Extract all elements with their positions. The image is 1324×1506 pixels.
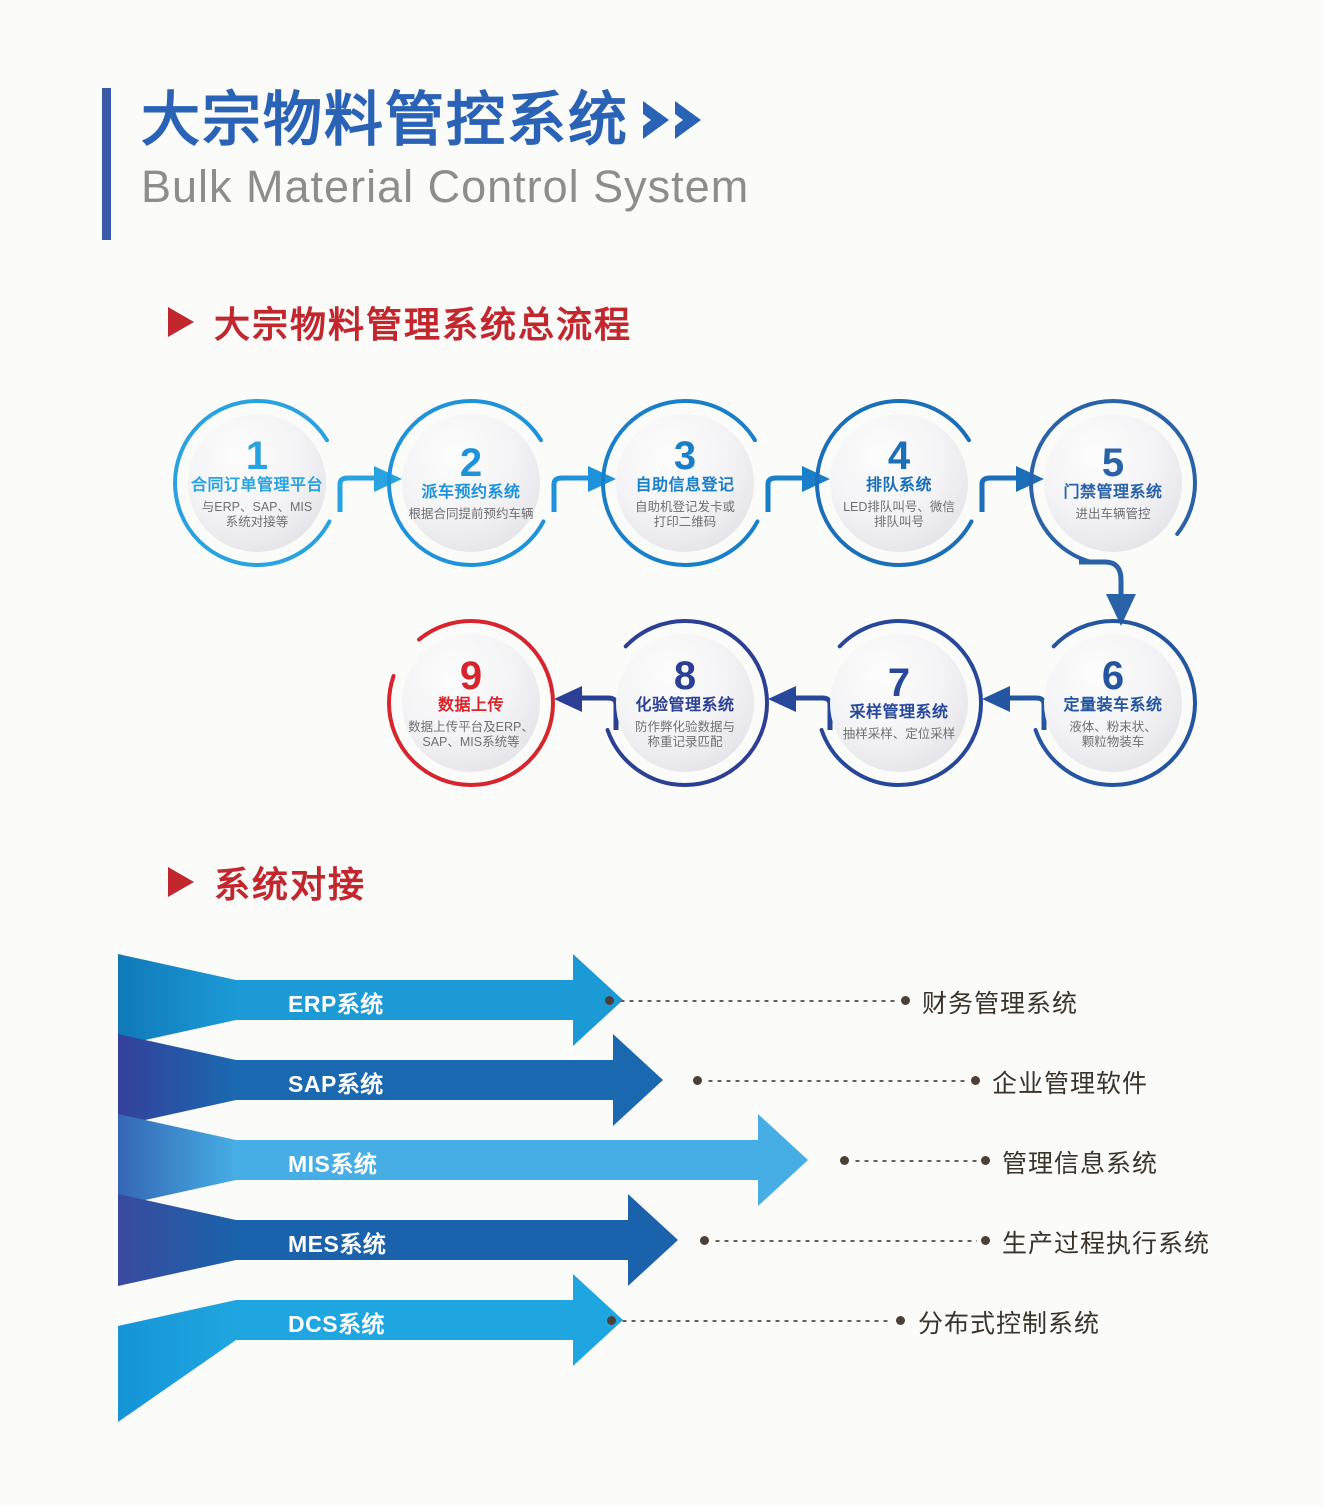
- dot-start: [840, 1156, 849, 1165]
- connector-dots-mes: [700, 1236, 990, 1245]
- flow-node-content: 6 定量装车系统 液体、粉末状、 颗粒物装车: [1028, 618, 1198, 788]
- dotted-line: [618, 1000, 897, 1002]
- connector-dots-sap: [693, 1076, 980, 1085]
- flow-node-desc: 液体、粉末状、 颗粒物装车: [1069, 720, 1157, 750]
- dot-end: [896, 1316, 905, 1325]
- integration-label-mis: MIS系统: [288, 1145, 377, 1179]
- flow-node-number: 3: [674, 437, 696, 475]
- flow-node-content: 3 自助信息登记 自助机登记发卡或 打印二维码: [600, 398, 770, 568]
- flow-node-desc: LED排队叫号、微信 排队叫号: [843, 500, 955, 530]
- flow-node-1[interactable]: 1 合同订单管理平台 与ERP、SAP、MIS 系统对接等: [172, 398, 342, 568]
- dot-start: [605, 996, 614, 1005]
- dotted-line: [706, 1080, 967, 1082]
- flow-node-desc: 根据合同提前预约车辆: [408, 507, 533, 522]
- integration-label-sap: SAP系统: [288, 1065, 384, 1099]
- flow-node-number: 9: [460, 657, 482, 695]
- dot-start: [693, 1076, 702, 1085]
- section-heading-integration: 系统对接: [168, 856, 366, 908]
- dotted-line: [713, 1240, 977, 1242]
- flow-node-content: 8 化验管理系统 防作弊化验数据与 称重记录匹配: [600, 618, 770, 788]
- poster-page: 大宗物料管控系统 Bulk Material Control System 大宗…: [0, 0, 1324, 1506]
- flow-node-4[interactable]: 4 排队系统 LED排队叫号、微信 排队叫号: [814, 398, 984, 568]
- flow-node-name: 化验管理系统: [635, 696, 734, 716]
- flow-node-content: 7 采样管理系统 抽样采样、定位采样: [814, 618, 984, 788]
- integration-label-dcs: DCS系统: [288, 1305, 385, 1339]
- flow-node-desc: 进出车辆管控: [1075, 507, 1150, 522]
- flow-node-2[interactable]: 2 派车预约系统 根据合同提前预约车辆: [386, 398, 556, 568]
- flow-node-name: 门禁管理系统: [1063, 483, 1162, 503]
- dotted-line: [620, 1320, 892, 1322]
- dot-end: [971, 1076, 980, 1085]
- flow-diagram: 1 合同订单管理平台 与ERP、SAP、MIS 系统对接等 2 派车预约系统 根…: [0, 0, 1324, 820]
- flow-node-number: 5: [1102, 444, 1124, 482]
- integration-target-erp: 财务管理系统: [922, 984, 1078, 1020]
- integration-target-sap: 企业管理软件: [992, 1064, 1148, 1100]
- arrow-shape-dcs: [118, 1274, 738, 1444]
- flow-node-number: 6: [1102, 657, 1124, 695]
- dot-end: [981, 1156, 990, 1165]
- flow-node-9[interactable]: 9 数据上传 数据上传平台及ERP、 SAP、MIS系统等: [386, 618, 556, 788]
- flow-node-desc: 与ERP、SAP、MIS 系统对接等: [202, 500, 312, 530]
- flow-node-content: 5 门禁管理系统 进出车辆管控: [1028, 398, 1198, 568]
- flow-node-8[interactable]: 8 化验管理系统 防作弊化验数据与 称重记录匹配: [600, 618, 770, 788]
- flow-node-name: 派车预约系统: [421, 483, 520, 503]
- flow-node-number: 1: [246, 437, 268, 475]
- integration-diagram: ERP系统 财务管理系统 SAP系统: [0, 930, 1324, 1470]
- dot-end: [901, 996, 910, 1005]
- flow-node-content: 1 合同订单管理平台 与ERP、SAP、MIS 系统对接等: [172, 398, 342, 568]
- flow-node-number: 2: [460, 444, 482, 482]
- integration-target-dcs: 分布式控制系统: [918, 1304, 1100, 1340]
- flow-node-desc: 抽样采样、定位采样: [843, 727, 956, 742]
- integration-target-mis: 管理信息系统: [1002, 1144, 1158, 1180]
- flow-node-name: 自助信息登记: [635, 476, 734, 496]
- integration-label-mes: MES系统: [288, 1225, 386, 1259]
- connector-dots-erp: [605, 996, 910, 1005]
- flow-node-6[interactable]: 6 定量装车系统 液体、粉末状、 颗粒物装车: [1028, 618, 1198, 788]
- flow-node-content: 2 派车预约系统 根据合同提前预约车辆: [386, 398, 556, 568]
- integration-label-erp: ERP系统: [288, 985, 384, 1019]
- flow-node-name: 采样管理系统: [849, 703, 948, 723]
- integration-target-mes: 生产过程执行系统: [1002, 1224, 1210, 1260]
- flow-node-content: 9 数据上传 数据上传平台及ERP、 SAP、MIS系统等: [386, 618, 556, 788]
- flow-node-desc: 防作弊化验数据与 称重记录匹配: [635, 720, 735, 750]
- flow-node-3[interactable]: 3 自助信息登记 自助机登记发卡或 打印二维码: [600, 398, 770, 568]
- dot-start: [607, 1316, 616, 1325]
- flow-node-name: 定量装车系统: [1063, 696, 1162, 716]
- flow-node-desc: 数据上传平台及ERP、 SAP、MIS系统等: [408, 720, 534, 750]
- flow-node-number: 8: [674, 657, 696, 695]
- dot-end: [981, 1236, 990, 1245]
- connector-dots-dcs: [607, 1316, 905, 1325]
- connector-dots-mis: [840, 1156, 990, 1165]
- flow-node-desc: 自助机登记发卡或 打印二维码: [635, 500, 735, 530]
- flow-node-name: 合同订单管理平台: [191, 476, 323, 496]
- flow-node-number: 7: [888, 664, 910, 702]
- triangle-right-icon: [168, 867, 194, 897]
- flow-node-content: 4 排队系统 LED排队叫号、微信 排队叫号: [814, 398, 984, 568]
- flow-node-number: 4: [888, 437, 910, 475]
- dot-start: [700, 1236, 709, 1245]
- flow-node-name: 数据上传: [438, 696, 504, 716]
- section-title-integration: 系统对接: [214, 856, 366, 908]
- dotted-line: [853, 1160, 977, 1162]
- flow-node-5[interactable]: 5 门禁管理系统 进出车辆管控: [1028, 398, 1198, 568]
- flow-node-name: 排队系统: [866, 476, 932, 496]
- flow-node-7[interactable]: 7 采样管理系统 抽样采样、定位采样: [814, 618, 984, 788]
